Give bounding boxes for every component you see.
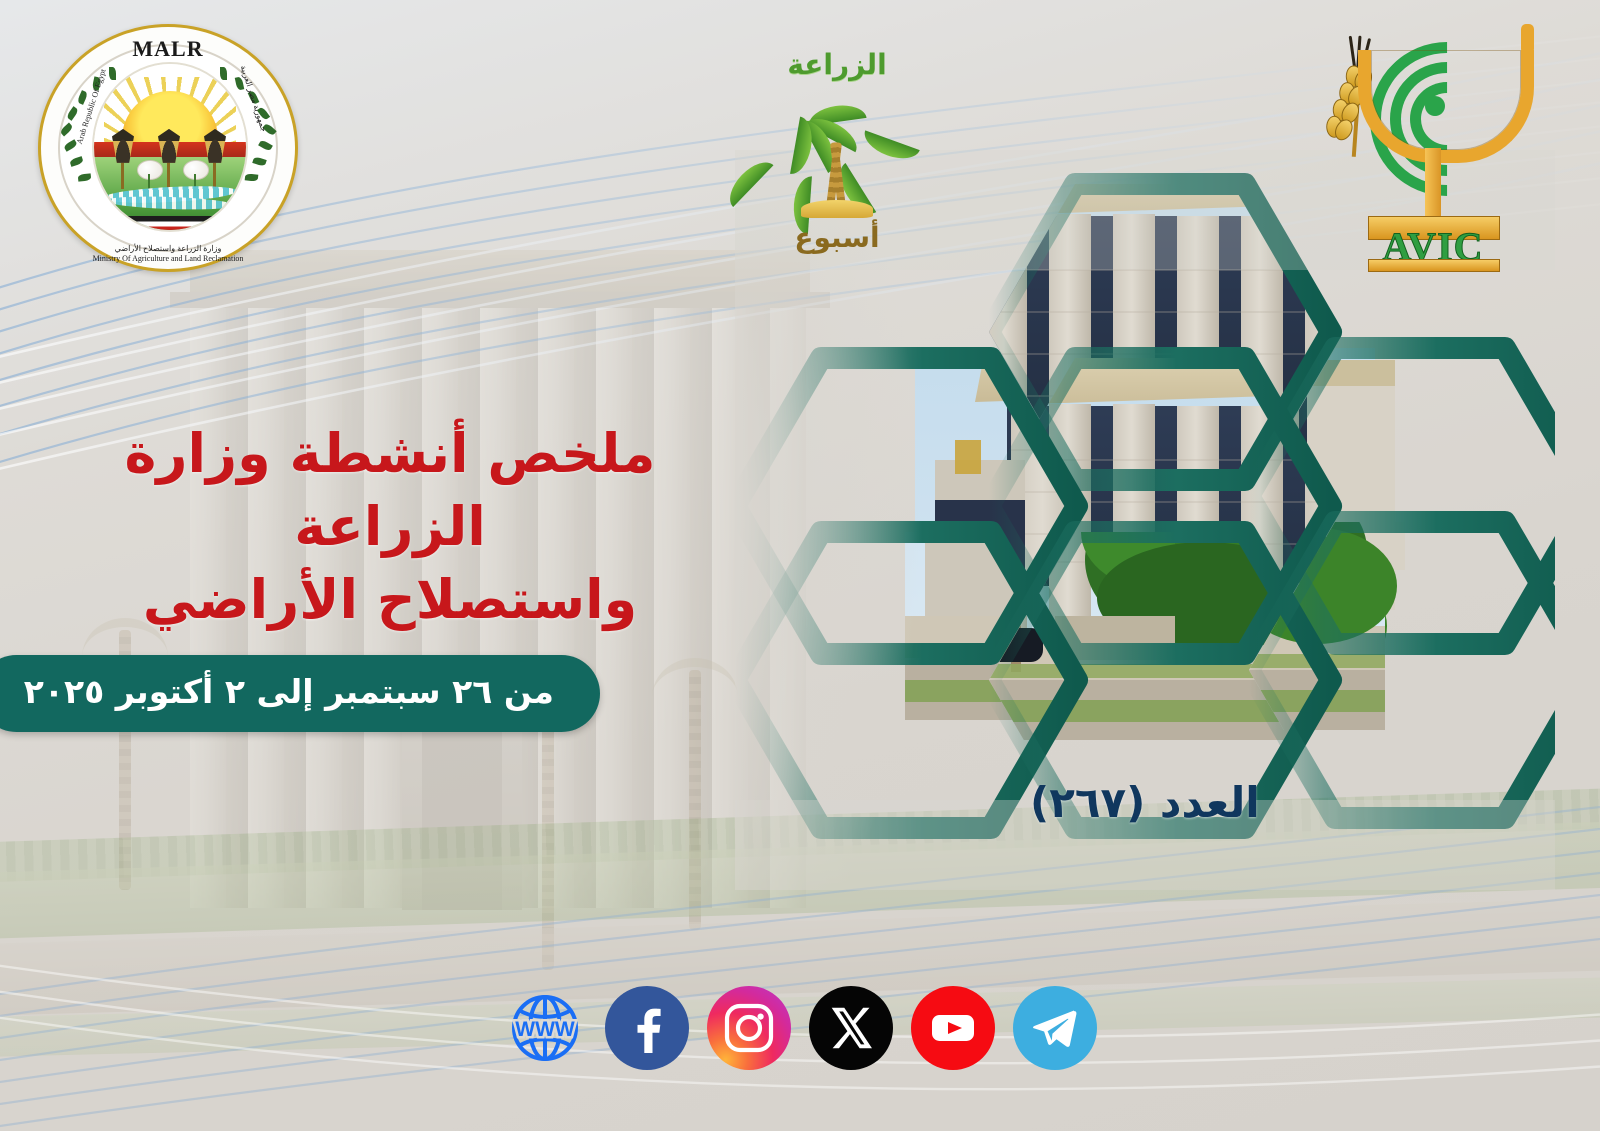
malr-ministry-logo: MALR Arab Republic Of Egypt جمهورية مصر … bbox=[38, 24, 298, 272]
page-title: ملخص أنشطة وزارة الزراعة واستصلاح الأراض… bbox=[110, 418, 670, 637]
facebook-icon[interactable] bbox=[605, 986, 689, 1070]
issue-number-label: العدد (٢٦٧) bbox=[1030, 778, 1260, 827]
palm-tree-icon bbox=[775, 96, 899, 216]
date-range-badge: من ٢٦ سبتمبر إلى ٢ أكتوبر ٢٠٢٥ bbox=[0, 655, 600, 732]
week-logo-top-text: الزراعة bbox=[742, 48, 932, 81]
malr-bottom-text-ar: وزارة الزراعة واستصلاح الأراضي bbox=[115, 244, 222, 253]
poster-canvas: MALR Arab Republic Of Egypt جمهورية مصر … bbox=[0, 0, 1600, 1131]
instagram-icon[interactable] bbox=[707, 986, 791, 1070]
malr-top-text: MALR bbox=[38, 36, 298, 62]
youtube-icon[interactable] bbox=[911, 986, 995, 1070]
headline-line-1: ملخص أنشطة وزارة الزراعة bbox=[125, 422, 656, 558]
malr-emblem-oval bbox=[92, 62, 248, 232]
telegram-icon[interactable] bbox=[1013, 986, 1097, 1070]
headline-line-2: واستصلاح الأراضي bbox=[110, 564, 670, 637]
website-icon[interactable]: WWW bbox=[503, 986, 587, 1070]
svg-text:WWW: WWW bbox=[515, 1018, 575, 1041]
week-logo-bottom-text: أسبوع bbox=[742, 221, 932, 254]
malr-bottom-text-en: Ministry Of Agriculture and Land Reclama… bbox=[93, 254, 244, 263]
social-links-bar: WWW bbox=[0, 986, 1600, 1070]
x-twitter-icon[interactable] bbox=[809, 986, 893, 1070]
avic-logo: AVIC bbox=[1324, 20, 1544, 270]
avic-wordmark: AVIC bbox=[1368, 232, 1498, 262]
agriculture-week-logo: الزراعة أسبوع bbox=[742, 48, 932, 248]
